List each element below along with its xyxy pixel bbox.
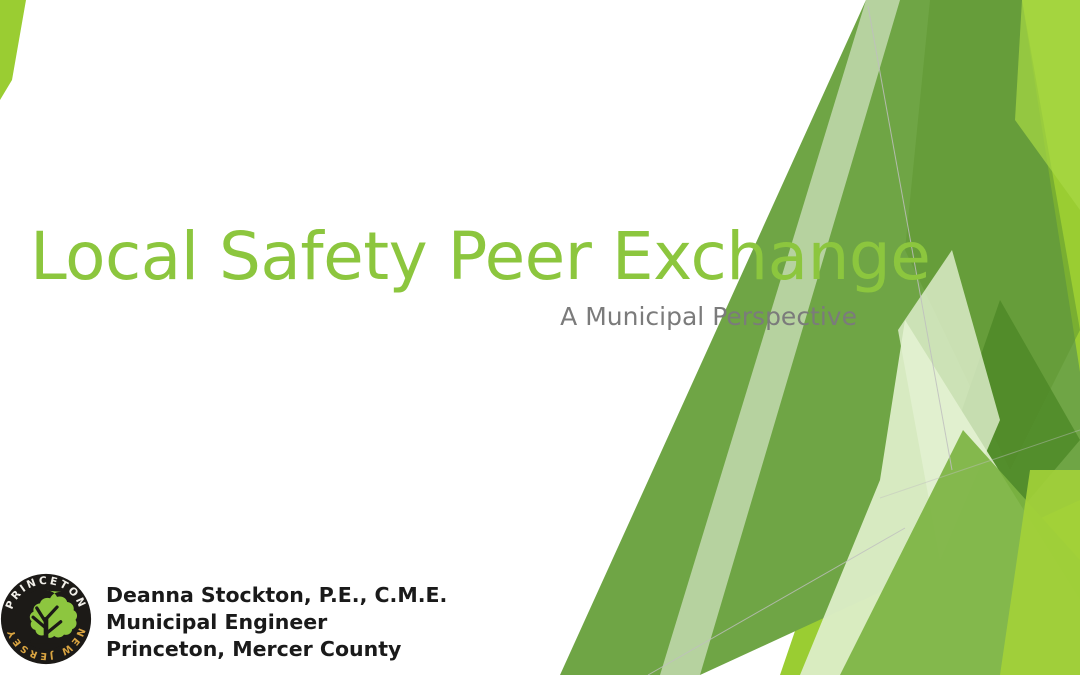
facet-deep-triangle [955,300,1080,520]
seal-tree-base [30,639,61,643]
princeton-new-jersey-seal-icon: PRINCETON NEW JERSEY [0,573,92,665]
hairline-cross [880,430,1080,498]
facet-dark-wedge-upper [905,0,1080,470]
hairline-lower [648,528,905,675]
facet-mid-panel-bottom [840,430,1080,675]
title-block: Local Safety Peer Exchange A Municipal P… [30,222,857,332]
corner-wedge-top-left [0,0,26,100]
facet-pale-triangle [800,320,1080,675]
author-location: Princeton, Mercer County [106,636,447,663]
facet-bright-base [780,0,1080,675]
facet-medium-band [560,0,1080,675]
slide-title: Local Safety Peer Exchange [30,222,857,292]
facet-bright-sliver-bottom [1000,470,1080,675]
facet-fringe-pale [660,0,900,675]
slide-subtitle: A Municipal Perspective [30,302,857,332]
facet-light-overlay-top [1015,0,1080,210]
author-name: Deanna Stockton, P.E., C.M.E. [106,582,447,609]
facet-pale-sliver [898,250,1000,560]
footer-block: PRINCETON NEW JERSEY Deanna Stockton, P.… [0,573,447,667]
princeton-seal-logo: PRINCETON NEW JERSEY [0,573,92,665]
author-role: Municipal Engineer [106,609,447,636]
presentation-slide: Local Safety Peer Exchange A Municipal P… [0,0,1080,675]
author-text-block: Deanna Stockton, P.E., C.M.E. Municipal … [106,582,447,667]
